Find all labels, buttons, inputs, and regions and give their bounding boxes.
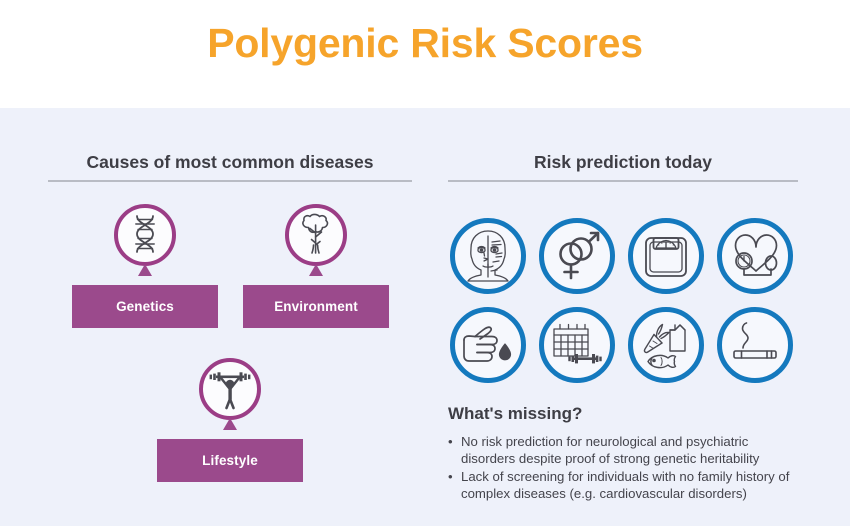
genetics-label[interactable]: Genetics [72,285,218,328]
risk-factor-sex[interactable] [539,218,615,294]
infographic-page: Polygenic Risk Scores Causes of most com… [0,0,850,526]
gender-symbols-icon [552,230,602,282]
dna-helix-icon [128,213,162,257]
bullet-glyph: • [448,468,453,485]
risk-factor-age[interactable] [450,218,526,294]
list-item-text: Lack of screening for individuals with n… [461,469,789,501]
lifestyle-connector [223,418,237,430]
weightlifter-icon [207,368,253,410]
left-section-heading: Causes of most common diseases [48,152,412,173]
finger-blood-drop-icon [461,324,515,366]
body-panel: Causes of most common diseases [0,108,850,526]
risk-factor-weight[interactable] [628,218,704,294]
aging-face-icon [462,229,514,283]
lifestyle-circle [199,358,261,420]
genetics-circle [114,204,176,266]
left-section-divider [48,180,412,182]
bullet-glyph: • [448,433,453,450]
risk-factor-diet[interactable] [628,307,704,383]
risk-factor-blood-pressure[interactable] [717,218,793,294]
environment-connector [309,264,323,276]
lifestyle-label[interactable]: Lifestyle [157,439,303,482]
right-section-heading: Risk prediction today [448,152,798,173]
list-item: • Lack of screening for individuals with… [448,468,800,502]
whats-missing-title: What's missing? [448,404,582,424]
list-item: • No risk prediction for neurological an… [448,433,800,467]
risk-factor-smoking[interactable] [717,307,793,383]
weight-scale-icon [641,231,691,281]
blood-pressure-heart-icon [729,232,781,280]
whats-missing-list: • No risk prediction for neurological an… [448,433,800,503]
header-band: Polygenic Risk Scores [0,0,850,108]
calendar-dumbbell-icon [550,322,604,368]
risk-factor-exercise[interactable] [539,307,615,383]
right-section-divider [448,180,798,182]
risk-factor-blood-glucose[interactable] [450,307,526,383]
carrot-fish-milk-icon [640,321,692,369]
environment-label[interactable]: Environment [243,285,389,328]
tree-icon [296,213,336,257]
page-title: Polygenic Risk Scores [0,20,850,67]
list-item-text: No risk prediction for neurological and … [461,434,759,466]
genetics-connector [138,264,152,276]
cigarette-icon [729,321,781,369]
environment-circle [285,204,347,266]
